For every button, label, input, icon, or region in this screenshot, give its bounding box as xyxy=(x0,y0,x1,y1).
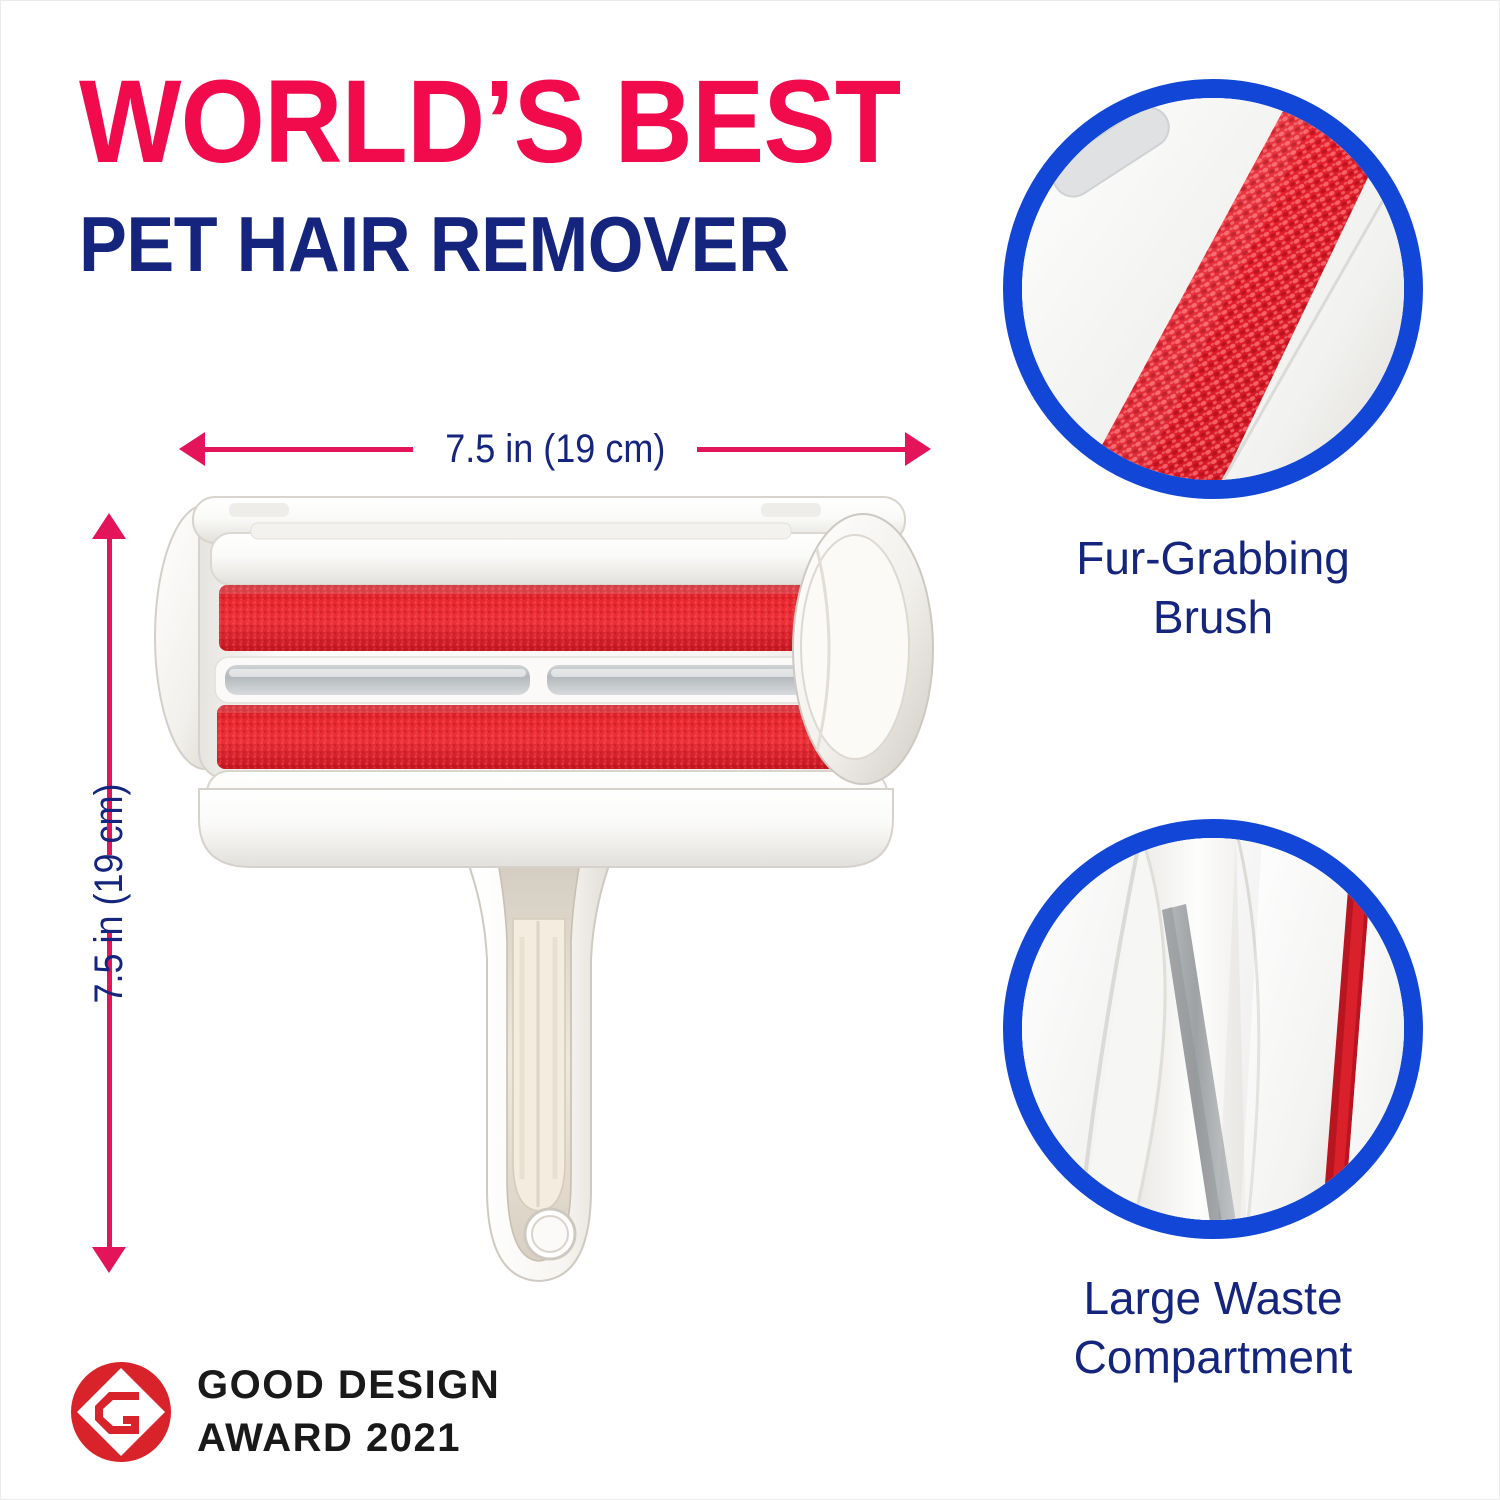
callout-1-label: Fur-Grabbing Brush xyxy=(1003,529,1423,647)
award-text: GOOD DESIGN AWARD 2021 xyxy=(197,1359,500,1465)
scraper-blades xyxy=(215,657,875,703)
arrow-down-head-icon xyxy=(92,1247,126,1273)
callout-2-label-line-1: Large Waste xyxy=(1003,1269,1423,1328)
callout-1-circle-image xyxy=(1003,79,1423,499)
height-dimension-arrow: 7.5 in (19 cm) xyxy=(85,513,133,1273)
arrow-right-head-icon xyxy=(905,432,931,466)
infographic-canvas: WORLD’S BEST PET HAIR REMOVER 7.5 in (19… xyxy=(0,0,1500,1500)
width-dimension-arrow: 7.5 in (19 cm) xyxy=(179,425,931,473)
arrow-right-shaft xyxy=(697,447,905,452)
callout-1-label-line-2: Brush xyxy=(1003,588,1423,647)
good-design-award-badge: GOOD DESIGN AWARD 2021 xyxy=(69,1359,500,1465)
arrow-left-head-icon xyxy=(179,432,205,466)
callout-2-label: Large Waste Compartment xyxy=(1003,1269,1423,1387)
callout-1-label-line-1: Fur-Grabbing xyxy=(1003,529,1423,588)
callout-large-waste-compartment: Large Waste Compartment xyxy=(1003,819,1423,1387)
brush-strip-lower xyxy=(217,705,877,769)
headline-line-2: PET HAIR REMOVER xyxy=(79,205,889,283)
arrow-up-head-icon xyxy=(92,513,126,539)
product-photo-pet-hair-remover xyxy=(141,489,941,1289)
width-dimension-label: 7.5 in (19 cm) xyxy=(427,427,683,472)
award-line-2: AWARD 2021 xyxy=(197,1412,500,1465)
height-dimension-label: 7.5 in (19 cm) xyxy=(87,783,132,1003)
brush-strip-upper xyxy=(219,585,879,651)
headline-block: WORLD’S BEST PET HAIR REMOVER xyxy=(79,63,959,283)
headline-line-1: WORLD’S BEST xyxy=(79,63,889,181)
callout-2-label-line-2: Compartment xyxy=(1003,1328,1423,1387)
callout-2-circle-image xyxy=(1003,819,1423,1239)
product-roller-head xyxy=(155,497,933,867)
good-design-g-mark-logo-icon xyxy=(69,1360,173,1464)
arrow-left-shaft xyxy=(205,447,413,452)
award-line-1: GOOD DESIGN xyxy=(197,1359,500,1412)
callout-fur-grabbing-brush: Fur-Grabbing Brush xyxy=(1003,79,1423,647)
